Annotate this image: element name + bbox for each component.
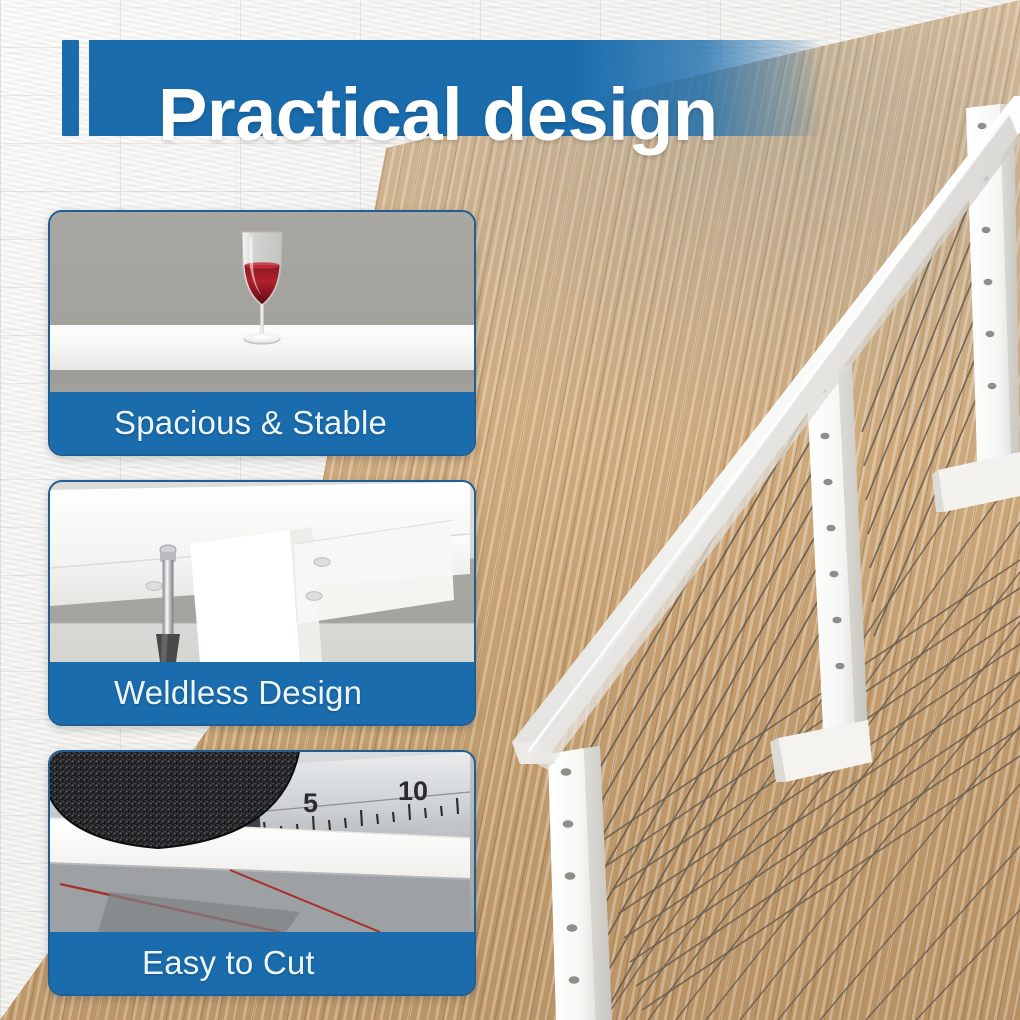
product-marketing-image: Practical design: [0, 0, 1020, 1020]
page-title: Practical design: [158, 78, 718, 152]
title-banner: Practical design: [62, 40, 822, 136]
table-saw-illustration: 5 10: [50, 752, 470, 932]
feature-card-label-spacious-stable: Spacious & Stable: [50, 392, 474, 454]
weldless-bracket-illustration: [50, 482, 470, 662]
feature-card-image-easy-to-cut: 5 10: [50, 752, 474, 932]
wine-glass-icon: [216, 222, 308, 352]
ruler-mark-10: 10: [398, 776, 428, 806]
feature-card-image-weldless: [50, 482, 474, 662]
feature-card-weldless-design[interactable]: Weldless Design: [48, 480, 476, 726]
rail-shadow: [50, 370, 474, 392]
feature-card-label-easy-to-cut: Easy to Cut: [50, 932, 474, 994]
feature-card-image-wine-glass: [50, 212, 474, 392]
ruler-mark-5: 5: [303, 788, 318, 818]
banner-accent-bar: [62, 40, 79, 136]
railing-post-near: [548, 746, 612, 1020]
feature-card-easy-to-cut[interactable]: 5 10 Easy to Cut: [48, 750, 476, 996]
feature-card-spacious-stable[interactable]: Spacious & Stable: [48, 210, 476, 456]
cable-group-near: [600, 560, 1020, 1010]
feature-card-label-weldless-design: Weldless Design: [50, 662, 474, 724]
